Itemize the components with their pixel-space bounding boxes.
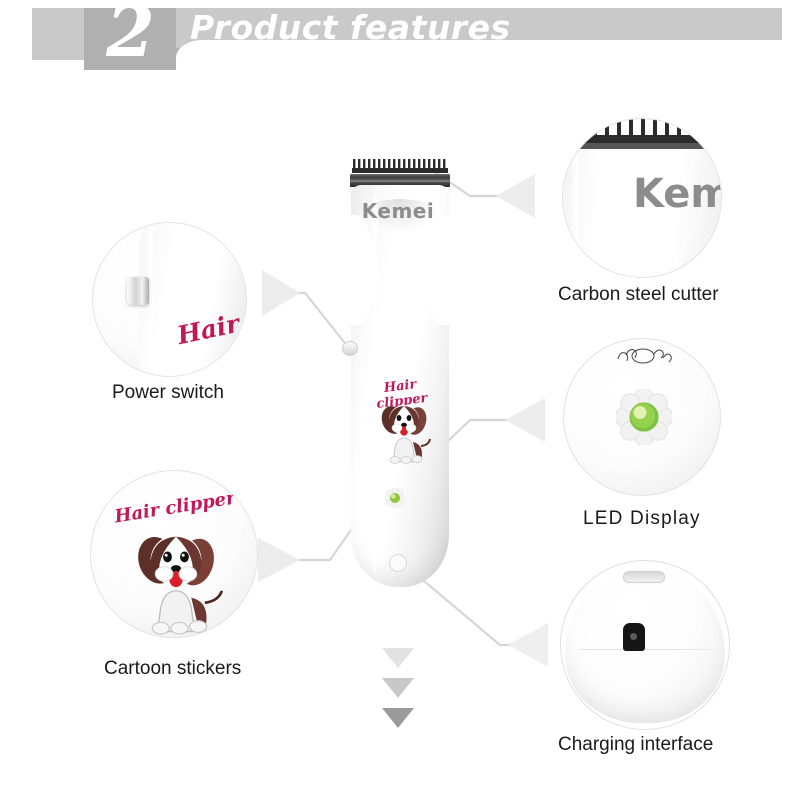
callout-led-display[interactable] (563, 338, 721, 496)
header-banner: 2 Product features (0, 0, 810, 78)
brand-label: Kemei (335, 199, 461, 223)
cartoon-dog-icon (123, 523, 229, 635)
callout-charging-interface[interactable] (560, 560, 730, 730)
blade-teeth-icon (352, 159, 448, 175)
power-switch-detail-body (139, 222, 247, 377)
charging-port (389, 554, 407, 572)
blade-bar (350, 174, 450, 182)
callout-cartoon-stickers[interactable]: Hair clipper (90, 470, 258, 638)
down-arrow-1-icon (382, 648, 414, 668)
power-switch-detail-button[interactable] (127, 277, 149, 305)
header-number: 2 (84, 0, 176, 70)
charging-detail-seam (579, 649, 711, 650)
label-cartoon-stickers: Cartoon stickers (104, 658, 241, 680)
cutter-blade-teeth-icon (562, 119, 722, 153)
product-features-page: 2 Product features (0, 0, 810, 810)
down-arrow-3-icon (382, 708, 414, 728)
cartoon-sticker-script: Hair clipper (112, 487, 238, 527)
label-carbon-steel-cutter: Carbon steel cutter (558, 284, 719, 306)
down-arrow-2-icon (382, 678, 414, 698)
product-clipper-illustration: Kemei Hair clipper (335, 155, 461, 595)
led-display-detail-icon (616, 389, 672, 445)
dog-sticker-icon (373, 398, 435, 464)
cutter-detail-brand: Keme (633, 171, 722, 217)
callout-power-switch[interactable]: Hair (92, 222, 247, 377)
charging-detail-base (565, 567, 725, 723)
charging-detail-top-slot (623, 571, 665, 583)
charging-port-pin (630, 633, 637, 640)
page-title: Product features (190, 6, 511, 50)
paw-print-decor-icon (612, 345, 674, 367)
header-band-left-accent (32, 8, 84, 60)
led-indicator-icon (385, 488, 405, 508)
cutter-detail-highlight (571, 143, 581, 278)
callout-carbon-steel-cutter[interactable]: Keme (562, 118, 722, 278)
label-led-display: LED Display (583, 508, 701, 530)
label-power-switch: Power switch (112, 382, 224, 404)
power-switch-button[interactable] (342, 341, 358, 356)
label-charging-interface: Charging interface (558, 734, 713, 756)
